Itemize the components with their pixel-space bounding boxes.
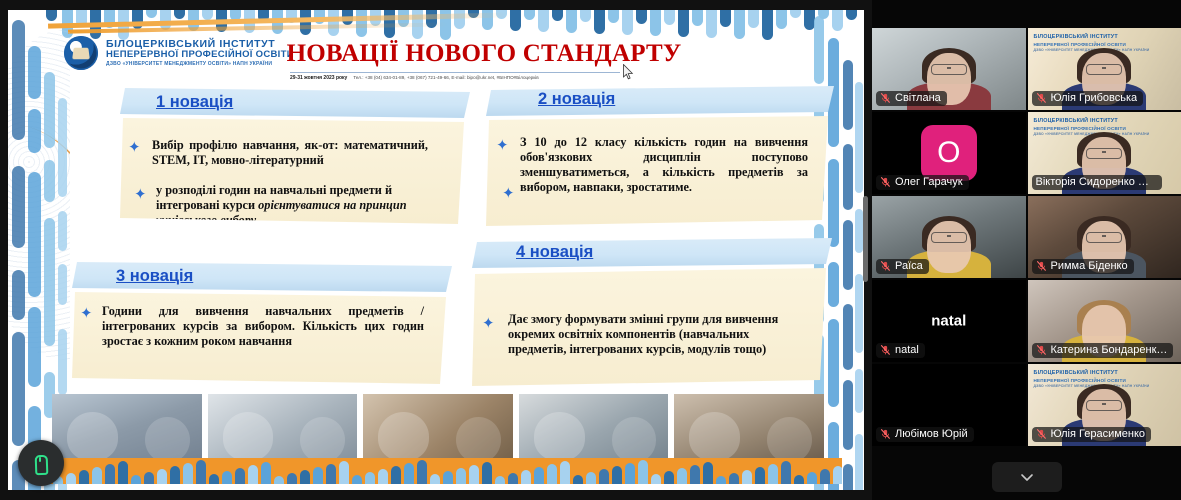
decoration-bar — [692, 10, 703, 26]
bullet-star-icon — [482, 316, 495, 331]
decoration-bar — [855, 274, 863, 353]
mic-off-icon — [880, 428, 891, 440]
decoration-bar — [456, 468, 466, 484]
decoration-bar — [482, 462, 492, 484]
decoration-bar — [365, 472, 375, 484]
participant-name-label: Юлія Грибовська — [1032, 91, 1144, 106]
decoration-bar — [12, 332, 25, 446]
avatar: О — [921, 125, 977, 181]
decoration-bar — [650, 10, 661, 36]
mic-off-icon — [880, 92, 891, 104]
participant-tile[interactable]: Любімов Юрій — [872, 364, 1026, 446]
decoration-bar — [706, 10, 717, 38]
decoration-bar — [248, 465, 258, 484]
decoration-bar — [843, 60, 853, 130]
participant-name: Олег Гарачук — [895, 176, 963, 188]
decoration-bar — [843, 220, 853, 290]
novation-1: 1 новація Вибір профілю навчання, як-от:… — [120, 88, 470, 224]
decoration-bar — [92, 467, 102, 484]
decoration-bar — [790, 10, 801, 18]
participant-tile[interactable]: БІЛОЦЕРКІВСЬКИЙ ІНСТИТУТНЕПЕРЕРВНОЇ ПРОФ… — [1028, 28, 1181, 110]
mic-off-icon — [880, 176, 891, 188]
mic-off-icon — [1036, 428, 1047, 440]
decoration-bar — [58, 264, 67, 305]
decoration-bar — [612, 466, 622, 484]
slide-meta-date: 29-31 жовтня 2023 року — [290, 75, 347, 81]
gallery-scroll-down-button[interactable] — [992, 462, 1062, 492]
institute-name-line3: ДЗВО «УНІВЕРСИТЕТ МЕНЕДЖМЕНТУ ОСВІТИ» НА… — [106, 62, 294, 67]
decoration-bar — [287, 473, 297, 484]
mic-off-icon — [880, 344, 891, 356]
decoration-bar — [404, 463, 414, 484]
decoration-bar — [28, 307, 41, 387]
decoration-bar — [594, 10, 605, 34]
participant-name-label: Світлана — [876, 91, 947, 106]
decoration-bar — [66, 473, 76, 484]
decoration-bar — [677, 468, 687, 484]
decoration-bar — [12, 270, 25, 320]
decoration-bar — [762, 10, 773, 40]
person-glasses — [931, 232, 967, 243]
novation-4-heading: 4 новація — [516, 243, 593, 262]
institute-logo-icon — [64, 36, 98, 70]
decoration-bar — [755, 467, 765, 484]
mic-off-icon — [1036, 428, 1047, 440]
presentation-slide[interactable]: БІЛОЦЕРКІВСЬКИЙ ІНСТИТУТ НЕПЕРЕРВНОЇ ПРО… — [8, 10, 864, 490]
decoration-bar — [28, 172, 41, 297]
decoration-bar — [58, 211, 67, 251]
decoration-bar — [300, 10, 311, 35]
decoration-bar — [534, 467, 544, 484]
bullet-star-icon — [502, 186, 515, 201]
participant-name: Римма Біденко — [1051, 260, 1128, 272]
institute-logo-row: БІЛОЦЕРКІВСЬКИЙ ІНСТИТУТ НЕПЕРЕРВНОЇ ПРО… — [64, 36, 294, 70]
decoration-bar — [833, 466, 842, 484]
decoration-bar — [843, 464, 853, 490]
novation-4-body: Дає змогу формувати змінні групи для вив… — [472, 268, 832, 386]
decoration-bar — [586, 472, 596, 484]
decoration-bar — [599, 469, 609, 484]
decoration-bar — [608, 10, 619, 23]
participant-name: Раїса — [895, 260, 923, 272]
mic-off-icon — [1036, 344, 1047, 356]
decoration-bar — [580, 10, 591, 22]
decoration-bar — [566, 10, 577, 33]
decoration-bar — [183, 463, 193, 484]
participant-name: Вікторія Сидоренко БІН… — [1036, 176, 1156, 188]
decoration-bar — [28, 109, 41, 153]
decoration-bar — [12, 166, 25, 248]
decoration-bar — [326, 464, 336, 484]
novation-4-header: 4 новація — [472, 238, 832, 268]
decoration-bar — [855, 209, 863, 253]
decoration-bar — [625, 463, 635, 484]
decoration-bar — [768, 464, 778, 484]
mic-off-icon — [1036, 92, 1047, 104]
participant-name-label: Вікторія Сидоренко БІН… — [1032, 175, 1162, 190]
decoration-bar — [58, 98, 67, 197]
participant-gallery[interactable]: СвітланаБІЛОЦЕРКІВСЬКИЙ ІНСТИТУТНЕПЕРЕРВ… — [872, 0, 1181, 500]
decoration-bar — [157, 469, 167, 484]
novation-1-bullet-1: Вибір профілю навчання, як-от: математич… — [152, 138, 428, 168]
shared-screen-area[interactable]: БІЛОЦЕРКІВСЬКИЙ ІНСТИТУТ НЕПЕРЕРВНОЇ ПРО… — [0, 0, 872, 500]
mic-off-icon — [880, 260, 891, 272]
decoration-bar — [44, 160, 55, 202]
decoration-bar — [734, 10, 745, 39]
mic-off-icon — [1036, 260, 1047, 272]
decoration-bar — [622, 10, 633, 35]
novation-2-heading: 2 новація — [538, 90, 615, 109]
decoration-bar — [552, 10, 563, 21]
decoration-bar — [521, 470, 531, 484]
pencil-icon — [31, 453, 51, 473]
participant-name-label: Римма Біденко — [1032, 259, 1134, 274]
decoration-bar — [391, 466, 401, 484]
participant-tile[interactable]: БІЛОЦЕРКІВСЬКИЙ ІНСТИТУТНЕПЕРЕРВНОЇ ПРОФ… — [1028, 112, 1181, 194]
bullet-star-icon — [80, 306, 93, 321]
mic-off-icon — [880, 344, 891, 356]
decoration-bar — [417, 460, 427, 484]
novation-2: 2 новація З 10 до 12 класу кількість год… — [486, 86, 834, 226]
decoration-bar — [352, 475, 362, 484]
decoration-bar — [79, 470, 89, 484]
bullet-star-icon — [496, 138, 509, 153]
participant-name-label: Любімов Юрій — [876, 427, 974, 442]
decoration-bar — [843, 144, 853, 210]
decoration-bar — [28, 46, 41, 99]
decoration-bar — [58, 329, 67, 395]
bullet-star-icon — [134, 187, 147, 202]
participant-initial-text: natal — [872, 313, 1026, 330]
decoration-bar — [690, 465, 700, 484]
decoration-bar — [678, 10, 689, 37]
decoration-bar — [638, 460, 648, 484]
decoration-bar — [443, 471, 453, 484]
decoration-bar — [855, 82, 863, 193]
decoration-bar — [196, 460, 206, 484]
decoration-bar — [430, 474, 440, 484]
decoration-bar — [300, 470, 310, 484]
novation-1-body: Вибір профілю навчання, як-от: математич… — [120, 118, 470, 224]
participant-tile[interactable]: natalnatal — [872, 280, 1026, 362]
novation-2-bullet-1: З 10 до 12 класу кількість годин на вивч… — [520, 135, 808, 196]
novation-3-bullet-1: Години для вивчення навчальних предметів… — [102, 304, 424, 349]
decoration-bar — [729, 473, 739, 484]
decoration-bar — [573, 475, 583, 484]
decoration-bar — [547, 464, 557, 484]
decoration-bar — [313, 467, 323, 484]
decoration-bar — [328, 10, 339, 36]
decoration-bar — [495, 476, 505, 484]
decoration-bar — [716, 476, 726, 484]
novation-1-bullet-2: у розподілі годин на навчальні предмети … — [156, 183, 436, 228]
decoration-bar — [703, 462, 713, 484]
participant-name: Катерина Бондаренк… — [1051, 344, 1168, 356]
person-glasses — [1086, 148, 1122, 159]
bullet-star-icon — [128, 140, 141, 155]
decoration-bar — [12, 20, 25, 140]
person-glasses — [1086, 232, 1122, 243]
decoration-bar — [508, 473, 518, 484]
decoration-bar — [538, 10, 549, 32]
novation-4-bullet-1: Дає змогу формувати змінні групи для вив… — [508, 312, 792, 357]
novation-3-heading: 3 новація — [116, 267, 193, 286]
novation-3-header: 3 новація — [72, 262, 452, 292]
decoration-bar — [202, 10, 213, 20]
decoration-bar — [814, 16, 824, 84]
decoration-bar — [131, 475, 141, 484]
institute-logo-text: БІЛОЦЕРКІВСЬКИЙ ІНСТИТУТ НЕПЕРЕРВНОЇ ПРО… — [106, 39, 294, 67]
participant-tile[interactable]: Катерина Бондаренк… — [1028, 280, 1181, 362]
mic-off-icon — [880, 428, 891, 440]
decoration-bar — [170, 466, 180, 484]
decoration-bar — [222, 471, 232, 484]
slide-bottom-decoration — [36, 458, 842, 484]
annotate-button[interactable] — [18, 440, 64, 486]
slide-meta-line: 29-31 жовтня 2023 року Тел.: +38 (04) 63… — [290, 72, 620, 81]
mic-off-icon — [1036, 344, 1047, 356]
decoration-bar — [118, 461, 128, 484]
decoration-bar — [748, 10, 759, 28]
mic-off-icon — [880, 260, 891, 272]
mic-off-icon — [880, 176, 891, 188]
decoration-bar — [651, 474, 661, 484]
participant-tile[interactable]: БІЛОЦЕРКІВСЬКИЙ ІНСТИТУТНЕПЕРЕРВНОЇ ПРОФ… — [1028, 364, 1181, 446]
novation-1-header: 1 новація — [120, 88, 470, 118]
participant-name: Любімов Юрій — [895, 428, 968, 440]
participant-name-label: natal — [876, 343, 925, 358]
mic-off-icon — [1036, 260, 1047, 272]
decoration-bar — [820, 469, 830, 484]
meeting-window: БІЛОЦЕРКІВСЬКИЙ ІНСТИТУТ НЕПЕРЕРВНОЇ ПРО… — [0, 0, 1181, 500]
chevron-down-icon — [1019, 469, 1035, 485]
participant-name: Юлія Грибовська — [1051, 92, 1138, 104]
participant-name-label: Раїса — [876, 259, 929, 274]
participant-tiles: СвітланаБІЛОЦЕРКІВСЬКИЙ ІНСТИТУТНЕПЕРЕРВ… — [872, 28, 1181, 446]
participant-name: Світлана — [895, 92, 941, 104]
decoration-bar — [235, 468, 245, 484]
participant-name-label: Олег Гарачук — [876, 175, 969, 190]
decoration-bar — [105, 464, 115, 484]
participant-name: natal — [895, 344, 919, 356]
decoration-bar — [378, 469, 388, 484]
mic-off-icon — [880, 92, 891, 104]
slide-meta-contact: Тел.: +38 (04) 634-01-89, +38 (067) 721-… — [353, 75, 538, 81]
decoration-bar — [44, 218, 55, 346]
novation-3-body: Години для вивчення навчальних предметів… — [72, 292, 452, 384]
decoration-bar — [664, 10, 675, 25]
decoration-bar — [781, 461, 791, 484]
person-glasses — [1086, 400, 1122, 411]
decoration-bar — [146, 10, 157, 18]
decoration-bar — [636, 10, 647, 24]
participant-name-label: Юлія Герасименко — [1032, 427, 1152, 442]
decoration-bar — [742, 470, 752, 484]
decoration-bar — [261, 462, 271, 484]
participant-name: Юлія Герасименко — [1051, 428, 1146, 440]
decoration-bar — [469, 465, 479, 484]
participant-tile[interactable]: ООлег Гарачук — [872, 112, 1026, 194]
person-face — [927, 221, 971, 273]
decoration-bar — [855, 369, 863, 413]
decoration-bar — [776, 10, 787, 29]
institute-name-line2: НЕПЕРЕРВНОЇ ПРОФЕСІЙНОЇ ОСВІТИ — [106, 50, 294, 60]
decoration-bar — [209, 474, 219, 484]
decoration-bar — [274, 476, 284, 484]
person-glasses — [1086, 64, 1122, 75]
person-glasses — [931, 64, 967, 75]
decoration-bar — [664, 471, 674, 484]
decoration-bar — [794, 475, 804, 484]
decoration-bar — [720, 10, 731, 27]
novation-3: 3 новація Години для вивчення навчальних… — [72, 262, 452, 384]
novation-2-header: 2 новація — [486, 86, 834, 116]
decoration-bar — [843, 380, 853, 450]
participant-tile[interactable]: Римма Біденко — [1028, 196, 1181, 278]
decoration-bar — [524, 10, 535, 20]
mic-off-icon — [1036, 92, 1047, 104]
decoration-bar — [339, 461, 349, 484]
decoration-bar — [855, 434, 863, 490]
participant-name-label: Катерина Бондаренк… — [1032, 343, 1174, 358]
decoration-bar — [44, 72, 55, 148]
novation-1-heading: 1 новація — [156, 93, 233, 112]
novation-4: 4 новація Дає змогу формувати змінні гру… — [472, 238, 832, 386]
novation-2-body: З 10 до 12 класу кількість годин на вивч… — [486, 116, 834, 226]
mouse-cursor — [623, 64, 634, 80]
participant-tile[interactable]: Раїса — [872, 196, 1026, 278]
participant-tile[interactable]: Світлана — [872, 28, 1026, 110]
decoration-bar — [144, 472, 154, 484]
decoration-bar — [510, 10, 521, 31]
decoration-bar — [807, 472, 817, 484]
decoration-bar — [174, 10, 185, 19]
shared-content-scrollbar[interactable] — [863, 196, 868, 282]
decoration-bar — [560, 461, 570, 484]
decoration-bar — [843, 304, 853, 370]
